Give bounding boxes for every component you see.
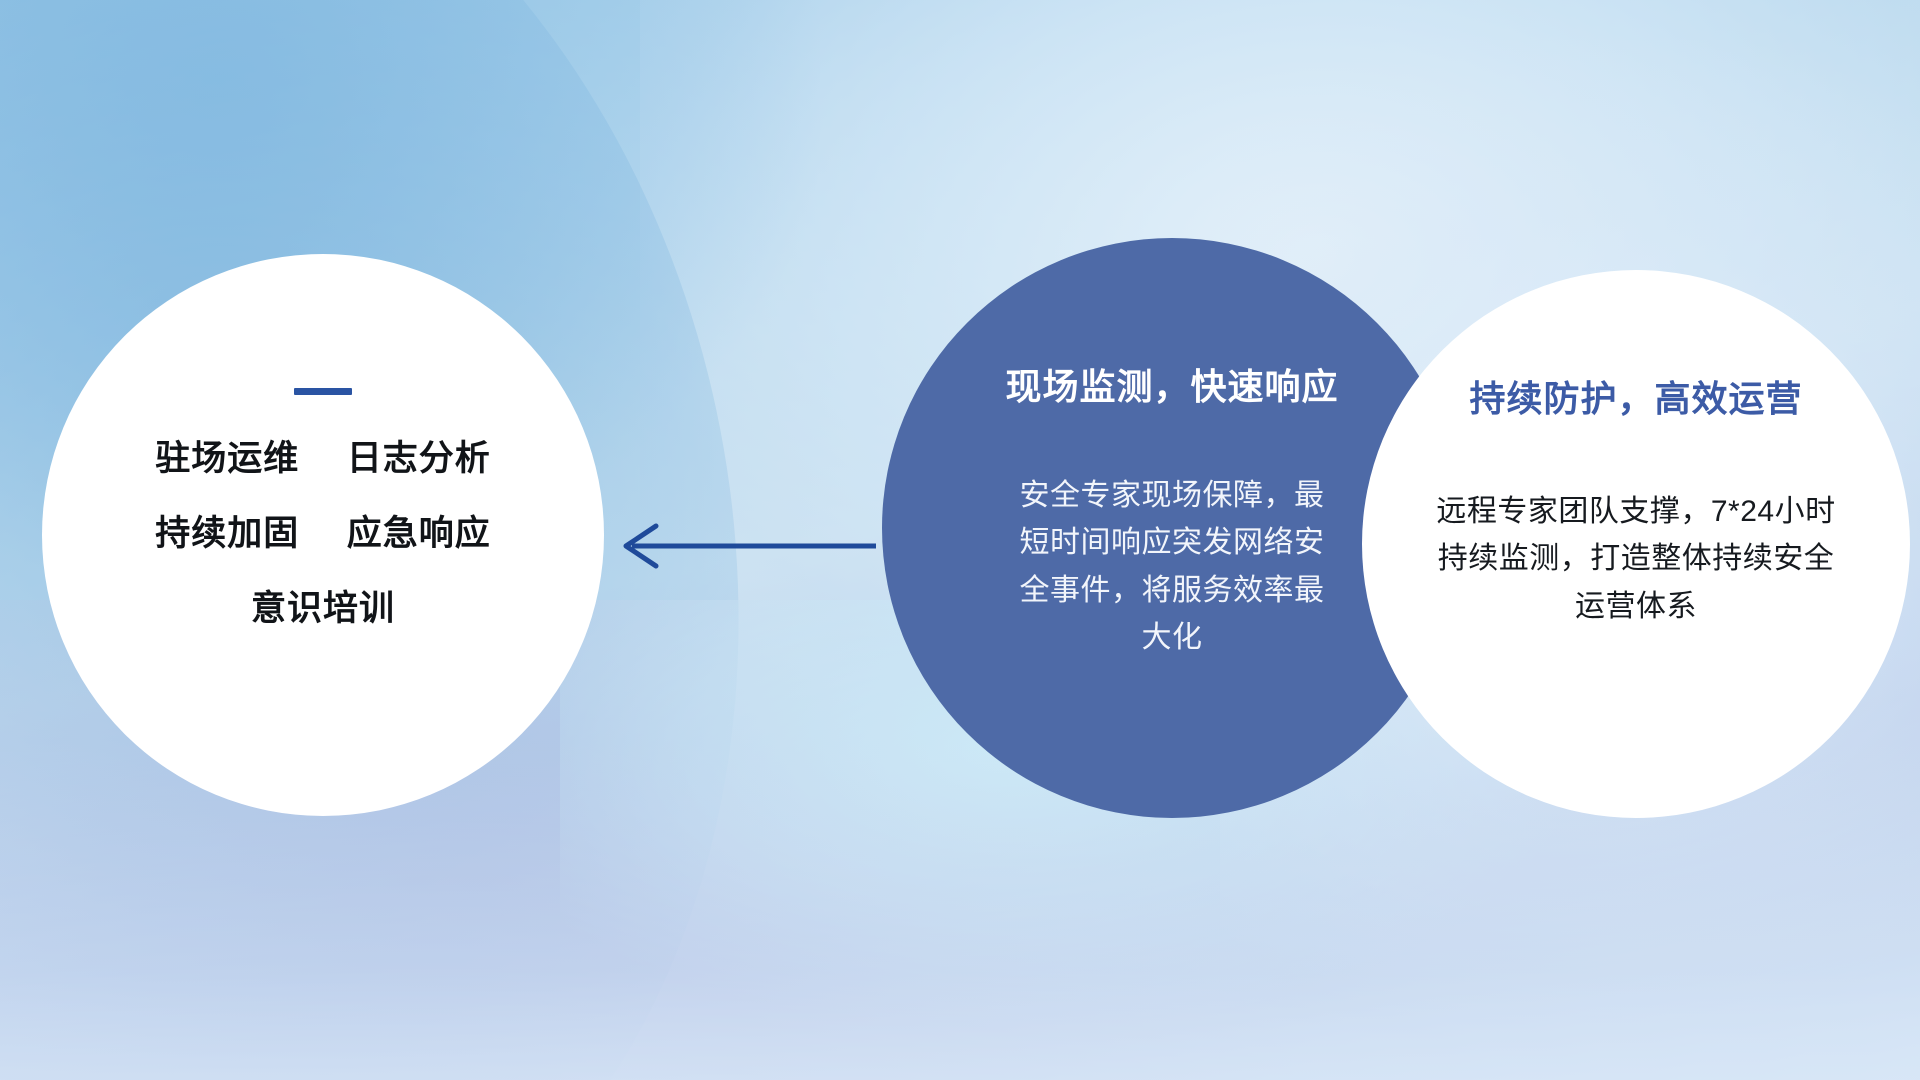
continuous-protection-body: 远程专家团队支撑，7*24小时持续监测，打造整体持续安全运营体系: [1426, 488, 1846, 630]
slide-canvas: 驻场运维 日志分析 持续加固 应急响应 意识培训 现场监测，快速响应 安全专家现…: [0, 0, 1920, 1080]
continuous-protection-title: 持续防护，高效运营: [1469, 370, 1802, 422]
keyword-label: 日志分析: [347, 439, 491, 478]
keyword-label: 持续加固: [155, 514, 299, 553]
keyword-row-3: 意识培训: [251, 591, 395, 626]
keyword-row-1: 驻场运维 日志分析: [155, 441, 491, 476]
accent-dash-divider: [294, 388, 352, 395]
onsite-monitoring-body: 安全专家现场保障，最短时间响应突发网络安全事件，将服务效率最大化: [1017, 472, 1327, 662]
keyword-label: 应急响应: [347, 514, 491, 553]
keyword-label: 驻场运维: [155, 439, 299, 478]
flow-arrow-left-icon: [596, 516, 876, 576]
continuous-protection-circle: 持续防护，高效运营 远程专家团队支撑，7*24小时持续监测，打造整体持续安全运营…: [1362, 270, 1910, 818]
keyword-label: 意识培训: [251, 589, 395, 628]
capability-keywords-circle: 驻场运维 日志分析 持续加固 应急响应 意识培训: [42, 254, 604, 816]
keyword-row-2: 持续加固 应急响应: [155, 516, 491, 551]
onsite-monitoring-title: 现场监测，快速响应: [1005, 358, 1338, 410]
